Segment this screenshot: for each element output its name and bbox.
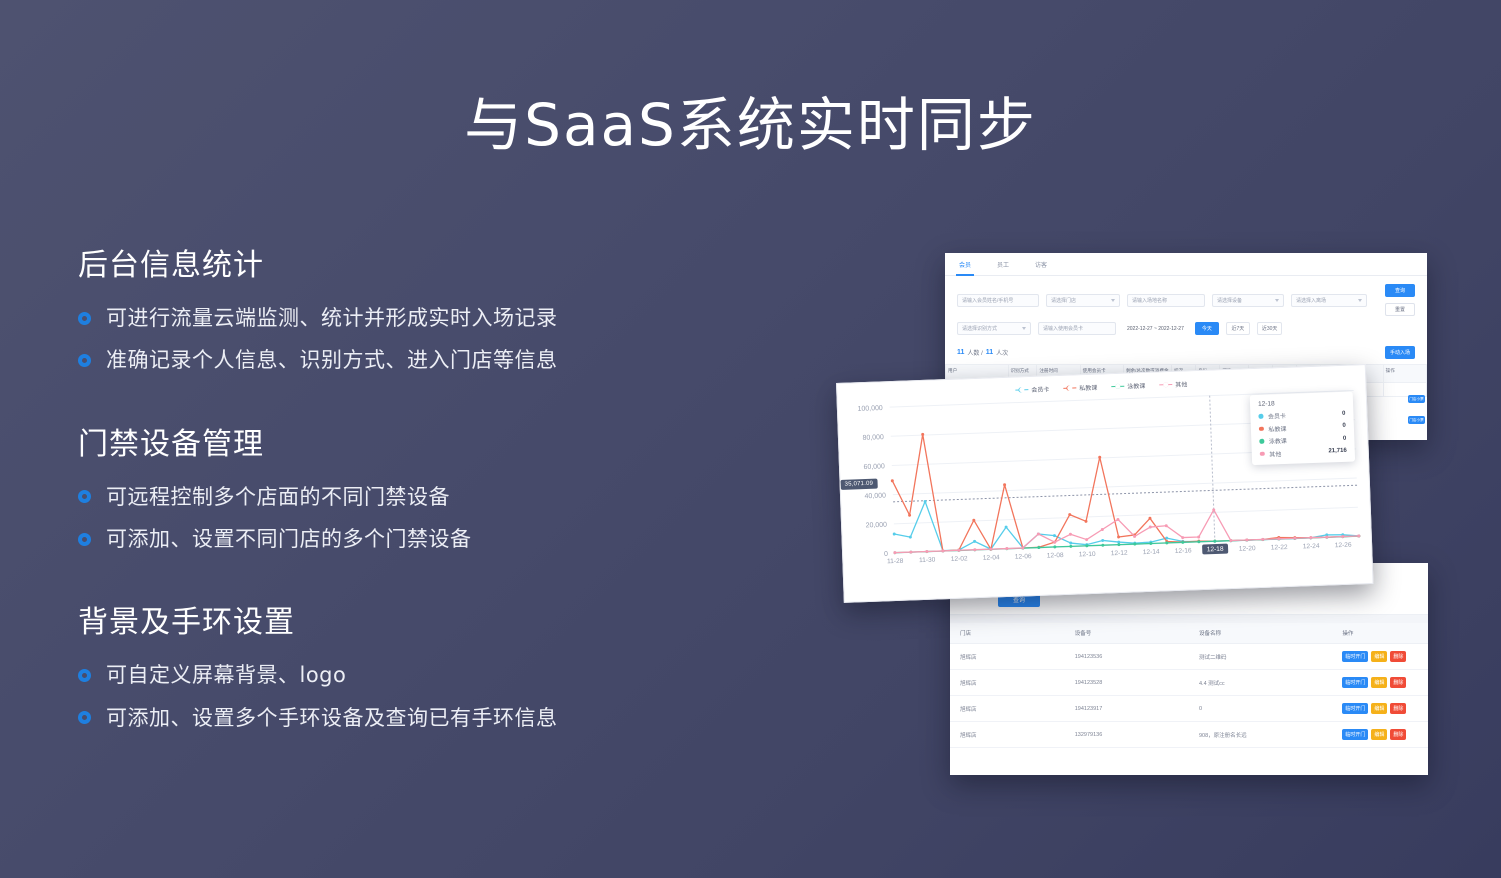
consumption-chart-panel: 会员卡 私教课 泳教课 其他 020,00040,00060,00080,000…: [836, 364, 1374, 603]
feature-list: 后台信息统计 可进行流量云端监测、统计并形成实时入场记录 准确记录个人信息、识别…: [78, 240, 718, 732]
bullet-item: 准确记录个人信息、识别方式、进入门店等信息: [78, 346, 718, 374]
bullet-item: 可自定义屏幕背景、logo: [78, 661, 718, 689]
legend-item-other[interactable]: 其他: [1159, 379, 1187, 389]
tooltip-dot-icon: [1259, 426, 1264, 431]
tooltip-row: 私教课 0: [1259, 421, 1346, 433]
svg-text:12-10: 12-10: [1079, 551, 1096, 559]
svg-text:12-22: 12-22: [1271, 544, 1288, 552]
svg-text:20,000: 20,000: [866, 522, 888, 530]
cell-operations: 临时开门 编辑 删除: [1332, 722, 1428, 748]
cell-store: 旭辉店: [950, 644, 1065, 670]
device-table-header-row: 门店 设备号 设备名称 操作: [950, 623, 1428, 644]
cell-device-no: 132979136: [1065, 722, 1189, 748]
bullet-label: 可添加、设置多个手环设备及查询已有手环信息: [106, 704, 558, 732]
count-people-value: 11: [957, 349, 964, 356]
cell-device-no: 194123536: [1065, 644, 1189, 670]
bullet-item: 可添加、设置不同门店的多个门禁设备: [78, 525, 718, 553]
bullet-ring-icon: [78, 533, 91, 546]
svg-text:12-14: 12-14: [1143, 549, 1160, 557]
store-receipt-chip[interactable]: 门店小票: [1408, 395, 1425, 403]
tooltip-row: 泳教课 0: [1259, 434, 1346, 446]
feature-block-access-device: 门禁设备管理 可远程控制多个店面的不同门禁设备 可添加、设置不同门店的多个门禁设…: [78, 419, 718, 554]
cell-store: 旭辉店: [950, 722, 1065, 748]
svg-text:80,000: 80,000: [862, 434, 884, 442]
legend-marker-icon: [1111, 383, 1124, 390]
edit-button[interactable]: 编辑: [1371, 677, 1387, 688]
svg-text:12-24: 12-24: [1303, 543, 1320, 551]
bullet-ring-icon: [78, 490, 91, 503]
open-door-button[interactable]: 临时开门: [1342, 677, 1368, 688]
filter-action-group: 查询 重置: [1385, 284, 1415, 316]
recognition-method-select[interactable]: 请选择识别方式: [957, 322, 1031, 335]
bullet-label: 可进行流量云端监测、统计并形成实时入场记录: [106, 304, 558, 332]
tab-staff[interactable]: 员工: [997, 260, 1009, 275]
chevron-down-icon: [1275, 299, 1279, 302]
open-door-button[interactable]: 临时开门: [1342, 703, 1368, 714]
tooltip-series-name: 私教课: [1268, 423, 1286, 433]
membership-card-input[interactable]: 请输入使用会员卡: [1038, 322, 1116, 335]
open-door-button[interactable]: 临时开门: [1342, 651, 1368, 662]
tooltip-row: 其他 21,716: [1260, 446, 1347, 458]
tooltip-title: 12-18: [1258, 398, 1345, 408]
svg-text:12-08: 12-08: [1047, 552, 1064, 560]
filter-row-2: 请选择识别方式 请输入使用会员卡 2022-12-27 ~ 2022-12-27…: [957, 322, 1415, 335]
legend-marker-icon: [1159, 381, 1172, 388]
chart-tooltip: 12-18 会员卡 0 私教课 0 泳教课 0: [1250, 392, 1355, 465]
legend-item-swim-class[interactable]: 泳教课: [1111, 381, 1145, 391]
tooltip-dot-icon: [1260, 451, 1265, 456]
svg-text:12-18: 12-18: [1207, 546, 1224, 554]
col-action: 操作: [1383, 365, 1426, 383]
filter-row-1: 请输入会员姓名/手机号 请选择门店 请输入场地名称 请选择设备 请选择入离场 查…: [957, 284, 1415, 316]
count-people-unit: 人数 /: [967, 348, 982, 357]
svg-text:11-28: 11-28: [887, 558, 904, 566]
bullet-ring-icon: [78, 711, 91, 724]
svg-text:12-02: 12-02: [951, 555, 968, 563]
delete-button[interactable]: 删除: [1390, 729, 1406, 740]
col-device-no: 设备号: [1065, 623, 1189, 644]
edit-button[interactable]: 编辑: [1371, 729, 1387, 740]
svg-text:100,000: 100,000: [858, 405, 884, 413]
member-name-input[interactable]: 请输入会员姓名/手机号: [957, 294, 1039, 307]
count-visits-unit: 人次: [996, 348, 1008, 357]
entry-exit-select[interactable]: 请选择入离场: [1291, 294, 1367, 307]
delete-button[interactable]: 删除: [1390, 651, 1406, 662]
table-row[interactable]: 旭辉店 132979136 908，原注册名长远 临时开门 编辑 删除: [950, 722, 1428, 748]
bullet-item: 可远程控制多个店面的不同门禁设备: [78, 483, 718, 511]
tooltip-series-name: 其他: [1269, 449, 1281, 458]
tooltip-series-value: 0: [1342, 423, 1346, 429]
svg-text:40,000: 40,000: [865, 492, 887, 500]
device-select-value: 请选择设备: [1217, 297, 1242, 304]
tooltip-row: 会员卡 0: [1258, 409, 1345, 421]
bullet-ring-icon: [78, 312, 91, 325]
range-7days-button[interactable]: 近7天: [1226, 322, 1250, 335]
reset-button[interactable]: 重置: [1385, 303, 1415, 316]
cell-device-no: 194123917: [1065, 696, 1189, 722]
col-operations: 操作: [1332, 623, 1428, 644]
threshold-value-flag: 35,071.09: [840, 479, 877, 490]
legend-label: 会员卡: [1031, 384, 1049, 394]
device-table: 门店 设备号 设备名称 操作 旭辉店 194123536 测试二维码 临时开门 …: [950, 623, 1428, 748]
feature-block-background-band: 背景及手环设置 可自定义屏幕背景、logo 可添加、设置多个手环设备及查询已有手…: [78, 597, 718, 732]
svg-text:12-26: 12-26: [1335, 542, 1352, 550]
feature-block-backend-stats: 后台信息统计 可进行流量云端监测、统计并形成实时入场记录 准确记录个人信息、识别…: [78, 240, 718, 375]
chevron-down-icon: [1358, 299, 1362, 302]
table-row[interactable]: 旭辉店 194123917 0 临时开门 编辑 删除: [950, 696, 1428, 722]
filter-area: 请输入会员姓名/手机号 请选择门店 请输入场地名称 请选择设备 请选择入离场 查…: [945, 276, 1427, 341]
venue-name-input[interactable]: 请输入场地名称: [1127, 294, 1205, 307]
svg-text:12-12: 12-12: [1111, 550, 1128, 558]
section-divider: [950, 614, 1428, 623]
chart-container: 会员卡 私教课 泳教课 其他 020,00040,00060,00080,000…: [837, 365, 1372, 602]
edit-button[interactable]: 编辑: [1371, 651, 1387, 662]
store-receipt-chip[interactable]: 门店小票: [1408, 416, 1425, 424]
tooltip-series-name: 泳教课: [1269, 436, 1287, 446]
open-door-button[interactable]: 临时开门: [1342, 729, 1368, 740]
range-30days-button[interactable]: 近30天: [1257, 322, 1283, 335]
cell-device-name: 4.4 测试cc: [1189, 670, 1332, 696]
delete-button[interactable]: 删除: [1390, 677, 1406, 688]
svg-text:12-04: 12-04: [983, 554, 1000, 562]
feature-heading: 后台信息统计: [78, 240, 718, 284]
tooltip-series-name: 会员卡: [1268, 411, 1286, 421]
store-select[interactable]: 请选择门店: [1046, 294, 1120, 307]
cell-device-no: 194123528: [1065, 670, 1189, 696]
table-row[interactable]: 旭辉店 194123536 测试二维码 临时开门 编辑 删除: [950, 644, 1428, 670]
count-visits-value: 11: [986, 349, 993, 356]
legend-item-private-class[interactable]: 私教课: [1063, 383, 1097, 393]
cell-device-name: 908，原注册名长远: [1189, 722, 1332, 748]
recognition-method-value: 请选择识别方式: [962, 325, 997, 332]
search-button[interactable]: 查询: [1385, 284, 1415, 297]
tooltip-series-value: 0: [1342, 410, 1346, 416]
range-today-button[interactable]: 今天: [1195, 322, 1219, 335]
tooltip-series-value: 21,716: [1328, 448, 1347, 455]
legend-label: 其他: [1175, 379, 1187, 388]
page-title: 与SaaS系统实时同步: [0, 78, 1501, 162]
delete-button[interactable]: 删除: [1390, 703, 1406, 714]
manual-entry-button[interactable]: 手动入场: [1385, 346, 1415, 359]
tab-member[interactable]: 会员: [959, 260, 971, 275]
bullet-label: 可远程控制多个店面的不同门禁设备: [106, 483, 450, 511]
feature-heading: 门禁设备管理: [78, 419, 718, 463]
cell-operations: 临时开门 编辑 删除: [1332, 696, 1428, 722]
svg-text:12-06: 12-06: [1015, 553, 1032, 561]
legend-marker-icon: [1063, 384, 1076, 391]
cell-store: 旭辉店: [950, 696, 1065, 722]
bullet-label: 可自定义屏幕背景、logo: [106, 661, 346, 689]
count-summary-bar: 11 人数 / 11 人次 手动入场: [945, 341, 1427, 364]
svg-text:12-16: 12-16: [1175, 547, 1192, 555]
cell-operations: 临时开门 编辑 删除: [1332, 670, 1428, 696]
legend-item-member-card[interactable]: 会员卡: [1015, 384, 1049, 394]
bullet-item: 可进行流量云端监测、统计并形成实时入场记录: [78, 304, 718, 332]
legend-label: 私教课: [1079, 383, 1097, 393]
legend-marker-icon: [1015, 386, 1028, 393]
table-row[interactable]: 旭辉店 194123528 4.4 测试cc 临时开门 编辑 删除: [950, 670, 1428, 696]
bullet-ring-icon: [78, 354, 91, 367]
svg-text:0: 0: [884, 551, 888, 558]
cell-device-name: 测试二维码: [1189, 644, 1332, 670]
col-store: 门店: [950, 623, 1065, 644]
svg-text:12-20: 12-20: [1239, 545, 1256, 553]
legend-label: 泳教课: [1127, 381, 1145, 391]
bullet-item: 可添加、设置多个手环设备及查询已有手环信息: [78, 704, 718, 732]
cell-store: 旭辉店: [950, 670, 1065, 696]
store-select-value: 请选择门店: [1051, 297, 1076, 304]
bullet-ring-icon: [78, 669, 91, 682]
screenshot-mockup-stack: 会员 员工 访客 请输入会员姓名/手机号 请选择门店 请输入场地名称 请选择设备…: [830, 248, 1440, 778]
tab-visitor[interactable]: 访客: [1035, 260, 1047, 275]
tooltip-dot-icon: [1258, 414, 1263, 419]
edit-button[interactable]: 编辑: [1371, 703, 1387, 714]
col-device-name: 设备名称: [1189, 623, 1332, 644]
entry-exit-select-value: 请选择入离场: [1296, 297, 1326, 304]
chevron-down-icon: [1111, 299, 1115, 302]
tooltip-series-value: 0: [1343, 435, 1347, 441]
date-range-field[interactable]: 2022-12-27 ~ 2022-12-27: [1123, 322, 1188, 335]
tooltip-dot-icon: [1259, 439, 1264, 444]
device-select[interactable]: 请选择设备: [1212, 294, 1284, 307]
cell-device-name: 0: [1189, 696, 1332, 722]
svg-text:11-30: 11-30: [919, 557, 936, 565]
svg-text:60,000: 60,000: [863, 463, 885, 471]
bullet-label: 准确记录个人信息、识别方式、进入门店等信息: [106, 346, 558, 374]
cell-operations: 临时开门 编辑 删除: [1332, 644, 1428, 670]
bullet-label: 可添加、设置不同门店的多个门禁设备: [106, 525, 472, 553]
tab-bar: 会员 员工 访客: [945, 253, 1427, 276]
chevron-down-icon: [1022, 327, 1026, 330]
feature-heading: 背景及手环设置: [78, 597, 718, 641]
